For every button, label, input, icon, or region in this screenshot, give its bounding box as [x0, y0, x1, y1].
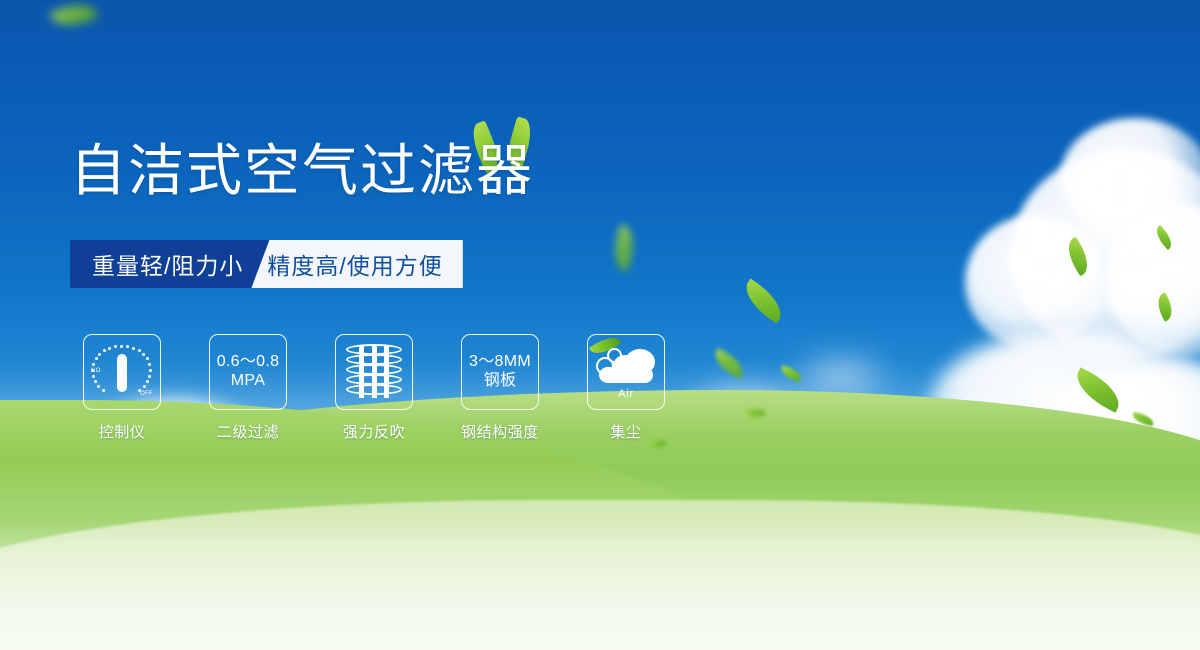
- feature-label: 钢结构强度: [461, 421, 539, 442]
- feature-icon-box: Air: [587, 334, 665, 410]
- air-cloud-icon: [595, 345, 657, 387]
- feature-item-back-blow[interactable]: 强力反吹: [322, 334, 426, 442]
- feature-list: NO OFF 控制仪 0.6～0.8 MPA 二级过滤: [70, 334, 678, 442]
- feature-item-two-stage-filter[interactable]: 0.6～0.8 MPA 二级过滤: [196, 334, 300, 442]
- feature-label: 二级过滤: [217, 421, 279, 442]
- promotional-banner: 自洁式空气过滤器 重量轻/阻力小 精度高/使用方便: [0, 0, 1200, 650]
- gauge-off-label: OFF: [140, 391, 153, 397]
- pressure-text-icon: 0.6～0.8 MPA: [217, 353, 280, 391]
- feature-icon-box: 3～8MM 钢板: [461, 334, 539, 410]
- feature-item-steel-strength[interactable]: 3～8MM 钢板 钢结构强度: [448, 334, 552, 442]
- air-label: Air: [618, 388, 634, 400]
- steel-material: 钢板: [469, 372, 531, 391]
- filter-coil-icon: [346, 343, 402, 401]
- pressure-unit: MPA: [217, 372, 280, 391]
- feature-label: 集尘: [610, 421, 641, 442]
- subtitle-bar: 重量轻/阻力小 精度高/使用方便: [70, 240, 463, 288]
- feature-label: 强力反吹: [343, 421, 405, 442]
- gauge-needle: [117, 354, 127, 392]
- dust-particle-ring: [607, 348, 622, 363]
- feature-icon-box: 0.6～0.8 MPA: [209, 334, 287, 410]
- gauge-on-label: NO: [91, 368, 101, 374]
- cloud-puff-small: [599, 367, 617, 383]
- page-title: 自洁式空气过滤器: [70, 143, 534, 199]
- steel-thickness: 3～8MM: [469, 353, 531, 372]
- feature-label: 控制仪: [99, 421, 146, 442]
- feature-icon-box: [335, 334, 413, 410]
- feature-item-dust-collection[interactable]: Air 集尘: [574, 334, 678, 442]
- subtitle-segment-left: 重量轻/阻力小: [70, 240, 269, 288]
- gauge-dial-icon: NO OFF: [92, 343, 152, 401]
- pressure-value: 0.6～0.8: [217, 353, 280, 372]
- steel-plate-text-icon: 3～8MM 钢板: [469, 353, 531, 391]
- feature-icon-box: NO OFF: [83, 334, 161, 410]
- subtitle-segment-right: 精度高/使用方便: [251, 240, 462, 288]
- feature-item-controller[interactable]: NO OFF 控制仪: [70, 334, 174, 442]
